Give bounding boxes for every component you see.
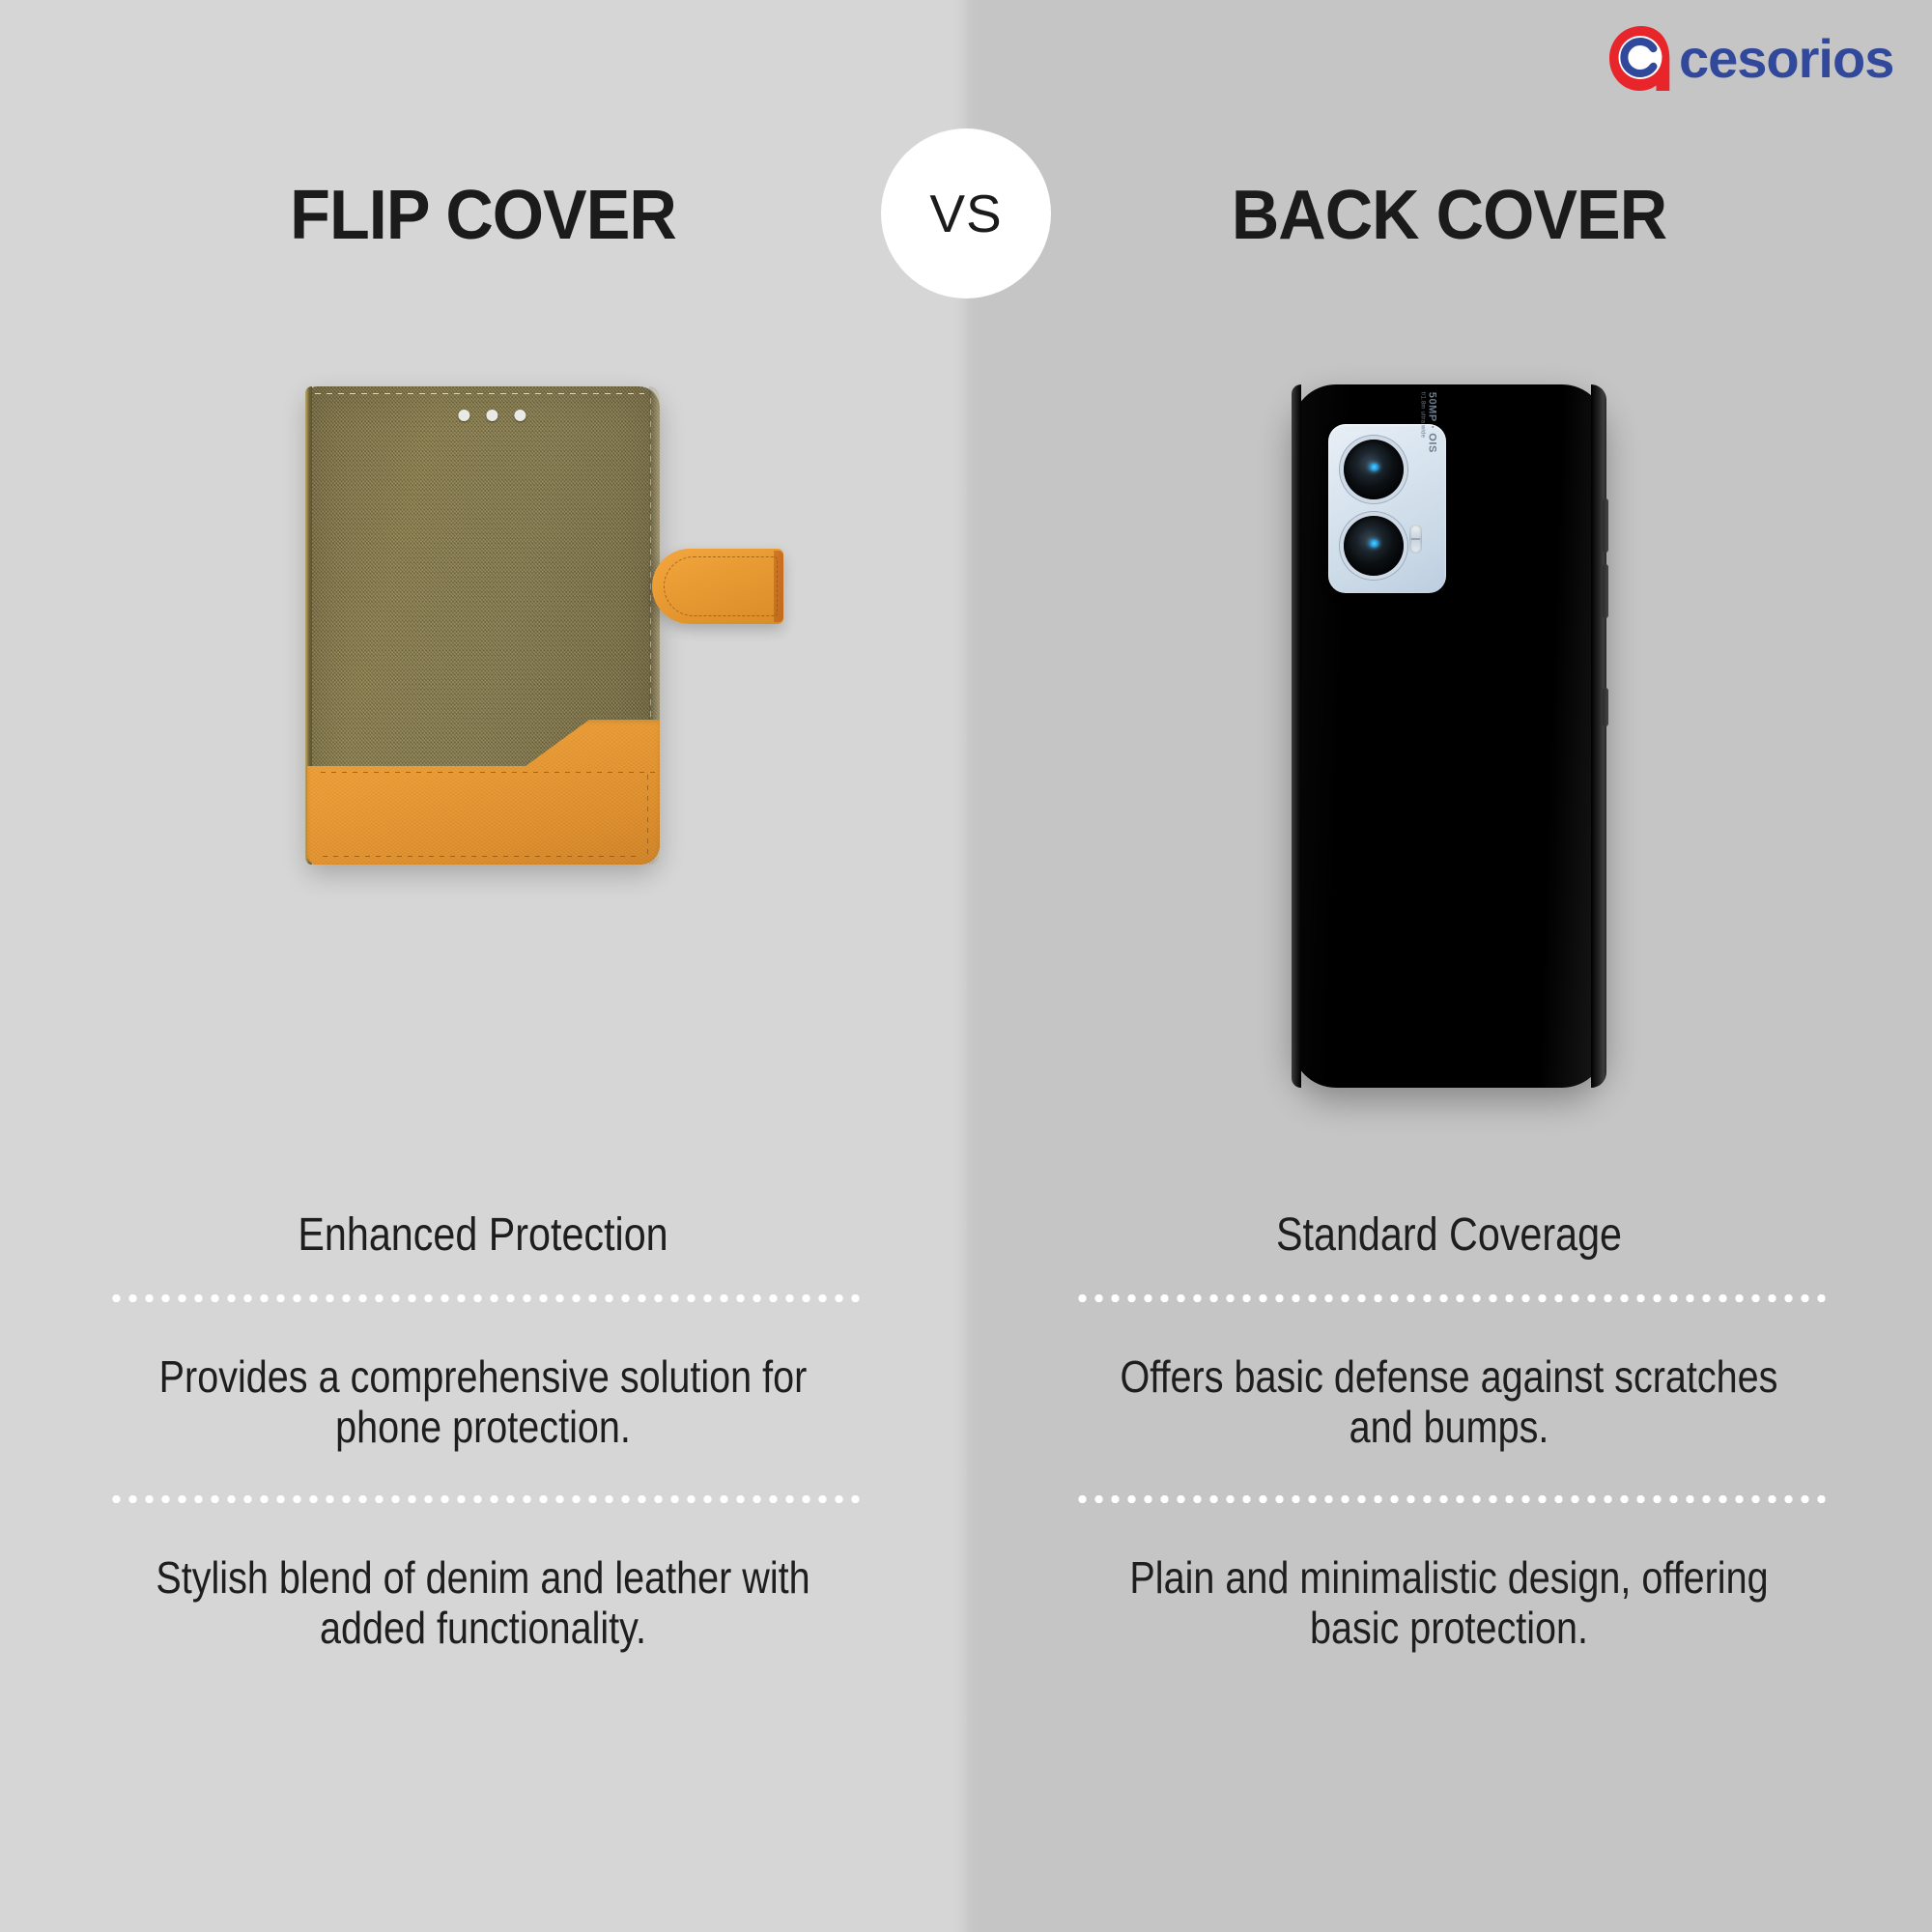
secondary-camera-lens-icon [1344, 516, 1404, 576]
flip-cover-product-image[interactable] [307, 386, 660, 865]
flip-cover-top-stitch [315, 393, 644, 394]
acesorios-logo[interactable]: cesorios [1605, 23, 1895, 95]
flap-stitch [664, 556, 778, 616]
back-cover-subtitle: Standard Coverage [1034, 1201, 1864, 1268]
camera-spec-secondary: f/1.8m ultra wide [1419, 392, 1425, 453]
flip-cover-magnetic-flap [652, 549, 783, 624]
back-cover-feature-1: Offers basic defense against scratches a… [1113, 1352, 1786, 1452]
flap-edge [774, 551, 783, 622]
left-divider-1 [108, 1294, 862, 1302]
primary-camera-lens-icon [1344, 440, 1404, 499]
volume-up-button [1603, 498, 1608, 553]
leather-grain-texture [307, 720, 660, 865]
comparison-infographic: cesorios FLIP COVER BACK COVER VS [0, 0, 1932, 1932]
vs-badge: VS [881, 128, 1051, 298]
flip-cover-camera-holes [458, 410, 526, 421]
power-button [1603, 688, 1608, 726]
vs-label: VS [929, 183, 1002, 244]
flip-cover-feature-1: Provides a comprehensive solution for ph… [147, 1352, 820, 1452]
right-divider-1 [1074, 1294, 1828, 1302]
flip-cover-leather-panel [307, 720, 660, 865]
case-left-edge [1292, 384, 1301, 1088]
volume-down-button [1603, 564, 1608, 618]
camera-module: 50MP · OIS f/1.8m ultra wide [1328, 424, 1446, 593]
logo-wordmark: cesorios [1679, 28, 1893, 89]
camera-spec-text: 50MP · OIS f/1.8m ultra wide [1419, 392, 1437, 453]
leather-top-stitch [321, 772, 660, 773]
back-cover-product-image[interactable]: 50MP · OIS f/1.8m ultra wide [1292, 384, 1606, 1088]
left-divider-2 [108, 1495, 862, 1503]
camera-spec-primary: 50MP · OIS [1426, 392, 1437, 453]
flip-cover-feature-2: Stylish blend of denim and leather with … [147, 1553, 820, 1653]
leather-bottom-stitch [323, 856, 639, 857]
back-cover-title: BACK COVER [990, 169, 1908, 261]
leather-side-stitch [647, 775, 648, 855]
flip-cover-title: FLIP COVER [24, 169, 942, 261]
camera-flash-icon [1409, 525, 1422, 554]
case-right-edge [1591, 384, 1606, 1088]
logo-mark-icon [1609, 26, 1669, 91]
svg-text:cesorios: cesorios [1679, 28, 1893, 89]
flip-cover-subtitle: Enhanced Protection [68, 1201, 898, 1268]
right-divider-2 [1074, 1495, 1828, 1503]
back-cover-feature-2: Plain and minimalistic design, offering … [1113, 1553, 1786, 1653]
